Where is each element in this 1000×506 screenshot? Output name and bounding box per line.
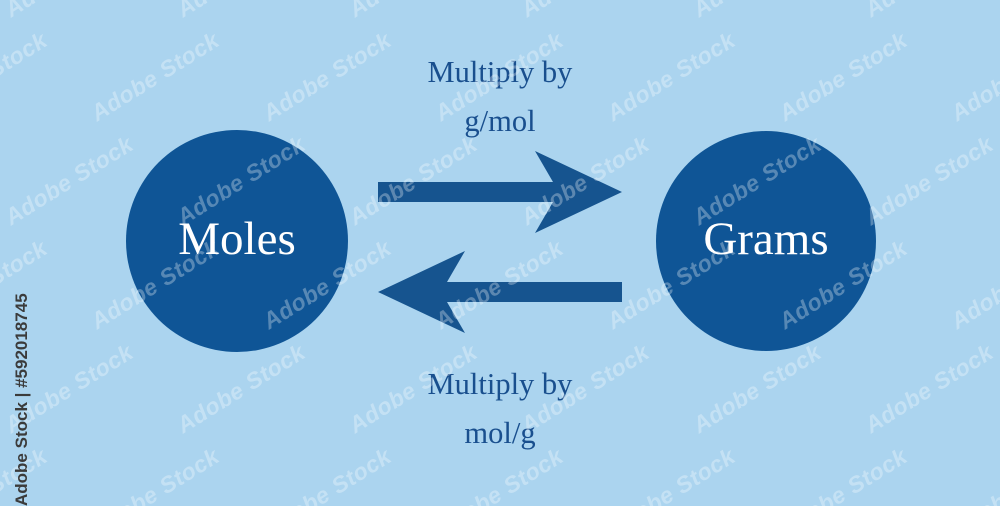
- moles-label: Moles: [178, 213, 296, 265]
- edge-label-moles-to-grams: Multiply by g/mol: [428, 55, 574, 138]
- node-moles[interactable]: Moles: [126, 130, 348, 352]
- arrow-left-shape: [378, 251, 622, 333]
- edge-label-top-line1: Multiply by: [428, 55, 574, 89]
- diagram-canvas: Moles Grams Multiply by g/mol Multiply b…: [0, 0, 1000, 506]
- arrow-right-shape: [378, 151, 622, 233]
- arrow-left-icon[interactable]: [378, 251, 622, 333]
- grams-label: Grams: [703, 213, 828, 265]
- mole-gram-conversion-diagram: Moles Grams Multiply by g/mol Multiply b…: [0, 0, 1000, 506]
- node-grams[interactable]: Grams: [656, 131, 876, 351]
- stock-credit-label: Adobe Stock | #592018745: [12, 293, 32, 506]
- edge-label-top-line2: g/mol: [464, 104, 535, 138]
- arrow-right-icon[interactable]: [378, 151, 622, 233]
- edge-label-bottom-line2: mol/g: [464, 416, 535, 450]
- edge-label-grams-to-moles: Multiply by mol/g: [428, 367, 574, 450]
- edge-label-bottom-line1: Multiply by: [428, 367, 574, 401]
